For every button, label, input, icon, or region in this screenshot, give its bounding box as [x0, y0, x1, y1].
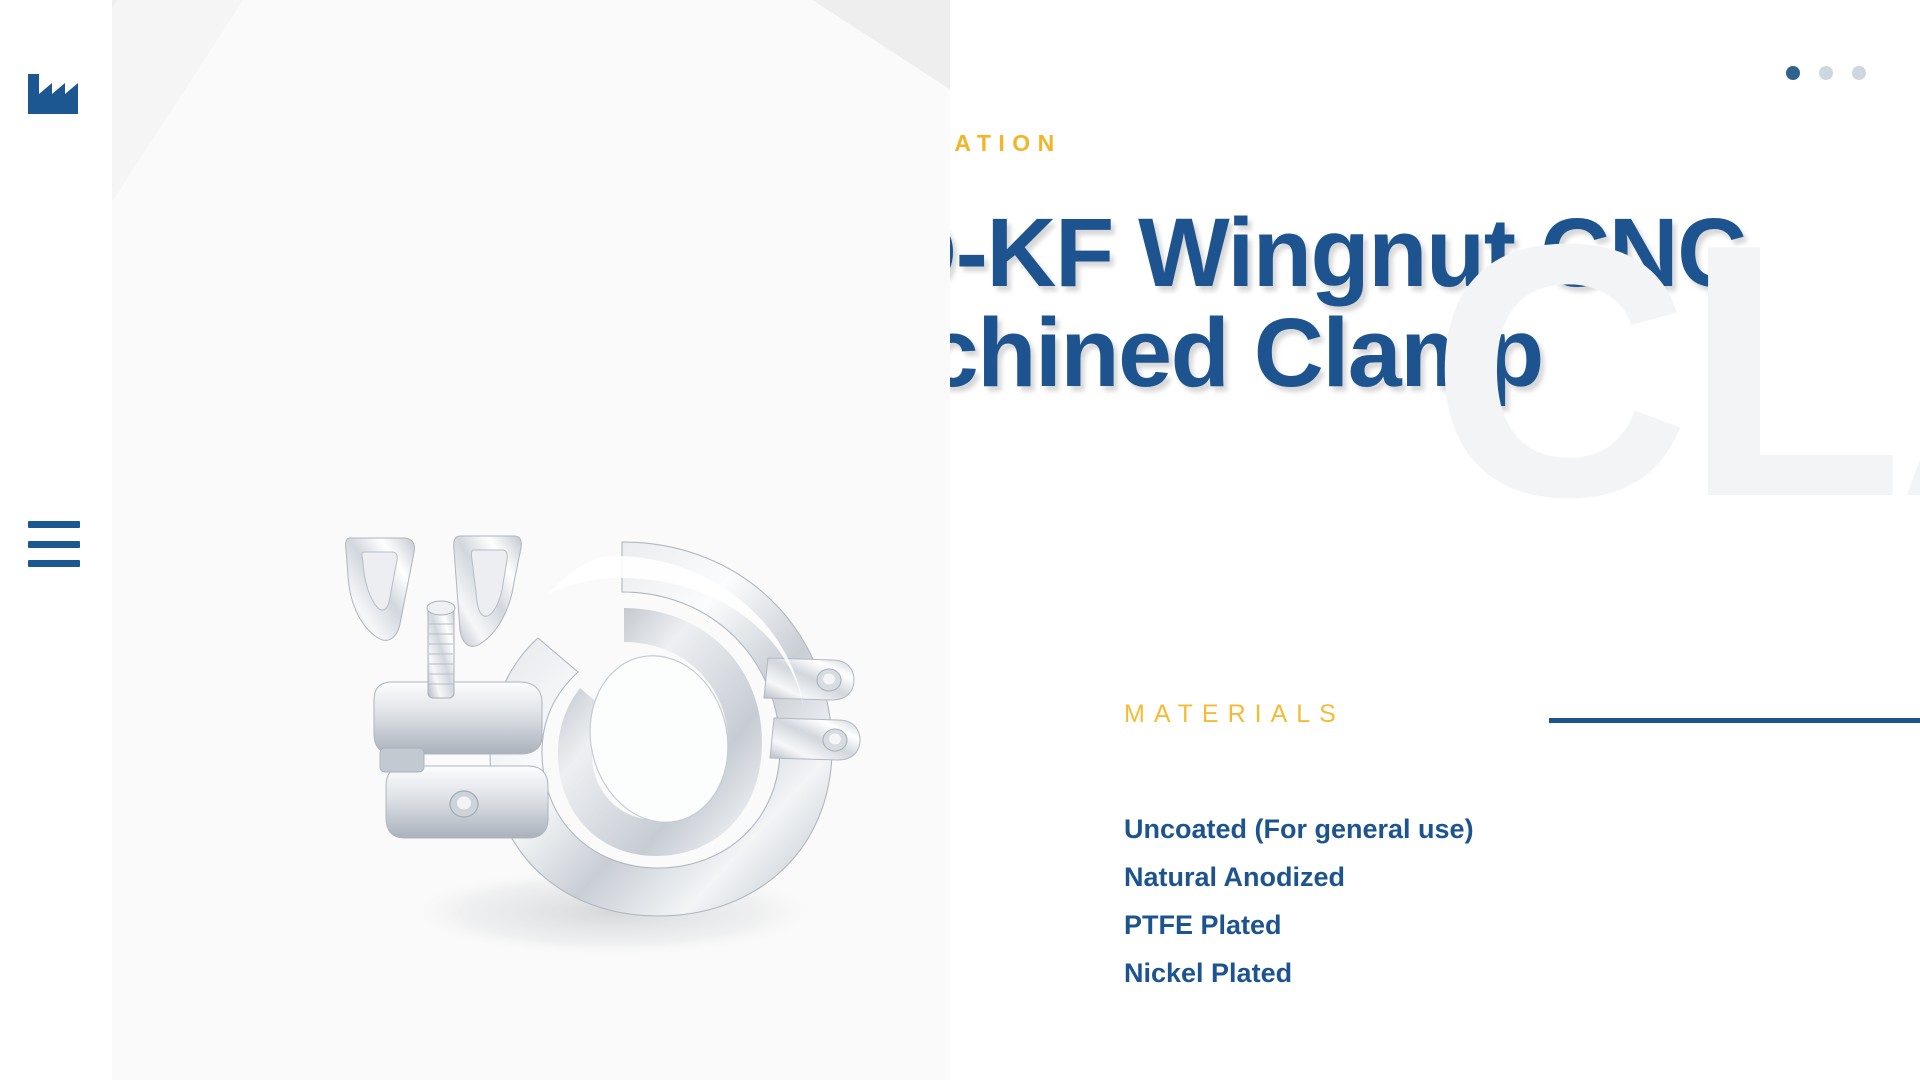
pagination-dot-2[interactable] [1819, 66, 1833, 80]
clamp-product-photo [292, 520, 892, 990]
list-item: Natural Anodized [1124, 853, 1824, 901]
materials-heading: MATERIALS [1124, 700, 1345, 729]
menu-bar [28, 560, 80, 567]
factory-icon[interactable] [28, 72, 80, 114]
list-item: Uncoated (For general use) [1124, 805, 1824, 853]
presentation-slide: CLAMP PRESENTATION ISO-KF Wingnut CNC Ma… [0, 0, 1920, 1080]
left-sidebar [0, 0, 112, 1080]
materials-list: Uncoated (For general use) Natural Anodi… [1124, 805, 1824, 997]
pagination-dot-3[interactable] [1852, 66, 1866, 80]
menu-bar [28, 541, 80, 548]
pagination-dot-1[interactable] [1786, 66, 1800, 80]
menu-bar [28, 521, 80, 528]
list-item: Nickel Plated [1124, 949, 1824, 997]
product-image-panel [112, 0, 950, 1080]
materials-divider [1549, 718, 1920, 723]
background-watermark-text: CLAMP [1430, 200, 1920, 542]
pagination-dots [1786, 66, 1866, 80]
list-item: PTFE Plated [1124, 901, 1824, 949]
hamburger-menu-icon[interactable] [28, 521, 80, 567]
